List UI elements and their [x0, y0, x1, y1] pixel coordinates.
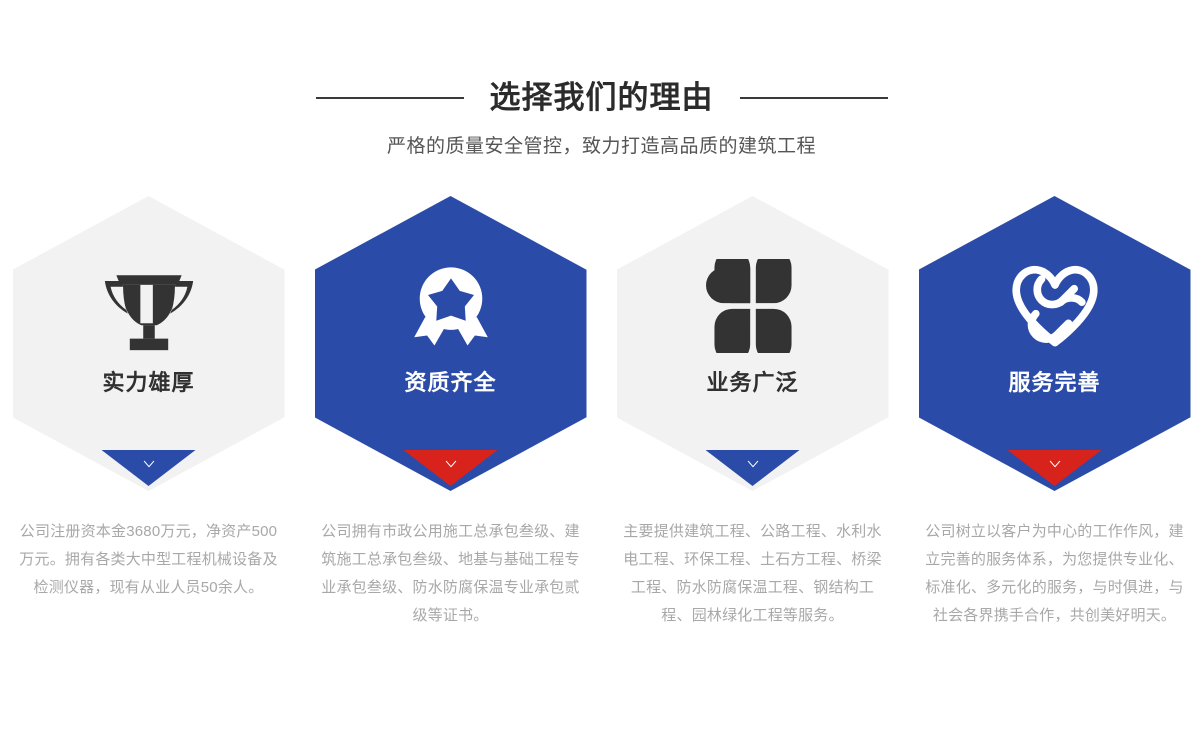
- feature-card-label: 服务完善: [1008, 368, 1100, 398]
- hexagon-shape: 实力雄厚: [13, 196, 285, 491]
- hexagon-shape: 服务完善: [919, 196, 1191, 491]
- feature-card-label: 实力雄厚: [102, 368, 194, 398]
- chevron-down-icon: [443, 456, 459, 472]
- hexagon-wrapper: 服务完善: [919, 196, 1191, 491]
- feature-card-qualifications[interactable]: 资质齐全: [305, 196, 596, 491]
- four-petal-clover-icon: [705, 258, 801, 354]
- chevron-down-icon: [141, 456, 157, 472]
- feature-card-list: 实力雄厚: [0, 196, 1203, 491]
- why-choose-us-section: 选择我们的理由 严格的质量安全管控，致力打造高品质的建筑工程: [0, 0, 1203, 736]
- rule-right-decoration: [740, 97, 888, 99]
- medal-star-icon: [403, 258, 499, 354]
- feature-description: 公司拥有市政公用施工总承包叁级、建筑施工总承包叁级、地基与基础工程专业承包叁级、…: [305, 518, 596, 630]
- feature-card-service[interactable]: 服务完善: [909, 196, 1200, 491]
- feature-description-list: 公司注册资本金3680万元，净资产500万元。拥有各类大中型工程机械设备及检测仪…: [0, 518, 1203, 630]
- chevron-down-icon: [1047, 456, 1063, 472]
- heart-chain-icon: [1007, 258, 1103, 354]
- feature-card-business-scope[interactable]: 业务广泛: [607, 196, 898, 491]
- section-header: 选择我们的理由 严格的质量安全管控，致力打造高品质的建筑工程: [0, 78, 1203, 160]
- feature-card-label: 业务广泛: [706, 368, 798, 398]
- section-subtitle: 严格的质量安全管控，致力打造高品质的建筑工程: [0, 134, 1203, 160]
- title-row: 选择我们的理由: [0, 78, 1203, 118]
- feature-description: 主要提供建筑工程、公路工程、水利水电工程、环保工程、土石方工程、桥梁工程、防水防…: [607, 518, 898, 630]
- chevron-down-icon: [745, 456, 761, 472]
- hexagon-wrapper: 实力雄厚: [13, 196, 285, 491]
- feature-card-strength[interactable]: 实力雄厚: [3, 196, 294, 491]
- feature-card-label: 资质齐全: [404, 368, 496, 398]
- feature-description: 公司树立以客户为中心的工作作风，建立完善的服务体系，为您提供专业化、标准化、多元…: [909, 518, 1200, 630]
- hexagon-shape: 业务广泛: [617, 196, 889, 491]
- rule-left-decoration: [316, 97, 464, 99]
- hexagon-shape: 资质齐全: [315, 196, 587, 491]
- hexagon-wrapper: 资质齐全: [315, 196, 587, 491]
- hexagon-wrapper: 业务广泛: [617, 196, 889, 491]
- trophy-icon: [101, 258, 197, 354]
- page-title: 选择我们的理由: [490, 78, 714, 118]
- feature-description: 公司注册资本金3680万元，净资产500万元。拥有各类大中型工程机械设备及检测仪…: [3, 518, 294, 630]
